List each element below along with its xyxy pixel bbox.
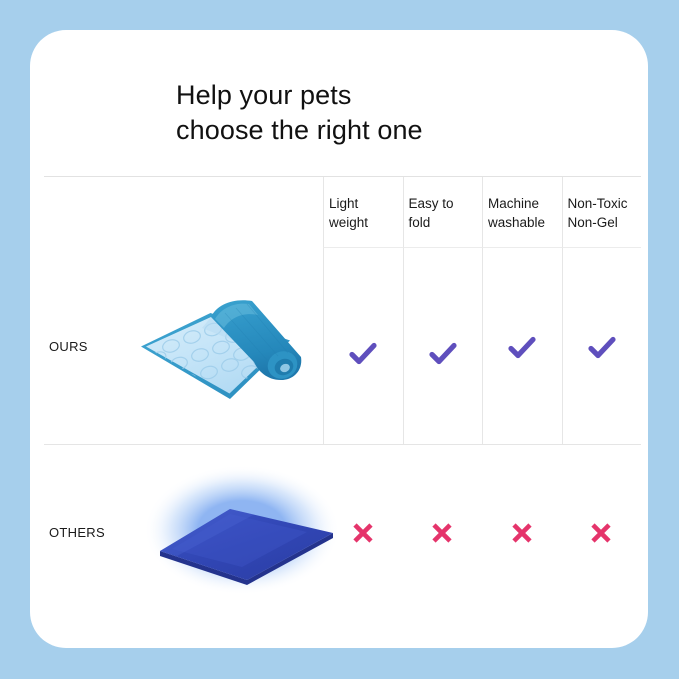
- cell-ours-non-toxic-non-gel: [562, 248, 642, 444]
- dark-blue-flat-gel-pad-image: [142, 463, 342, 597]
- cell-others-easy-to-fold: [403, 445, 483, 620]
- header-cell-light-weight: Light weight: [323, 177, 403, 248]
- header-label: Non-Toxic Non-Gel: [568, 194, 628, 232]
- product-cell-others: OTHERS: [44, 445, 323, 620]
- cell-others-machine-washable: [482, 445, 562, 620]
- content-card: Help your pets choose the right one Ligh…: [30, 30, 648, 648]
- row-label-others: OTHERS: [49, 525, 105, 540]
- blue-rolled-cooling-mat-image: [136, 282, 311, 410]
- product-cell-ours: OURS: [44, 248, 323, 444]
- cross-icon: [588, 520, 614, 546]
- table-header-row: Light weight Easy to fold Machine washab…: [44, 177, 641, 248]
- cross-icon: [509, 520, 535, 546]
- header-cell-non-toxic-non-gel: Non-Toxic Non-Gel: [562, 177, 642, 248]
- header-cell-machine-washable: Machine washable: [482, 177, 562, 248]
- table-row-others: OTHERS: [44, 445, 641, 620]
- header-label: Light weight: [329, 194, 368, 232]
- header-label: Machine washable: [488, 194, 545, 232]
- header-label: Easy to fold: [409, 194, 454, 232]
- comparison-infographic: Help your pets choose the right one Ligh…: [0, 0, 679, 679]
- page-title: Help your pets choose the right one: [176, 78, 596, 148]
- header-cell-easy-to-fold: Easy to fold: [403, 177, 483, 248]
- comparison-table: Light weight Easy to fold Machine washab…: [44, 176, 641, 620]
- check-icon: [587, 335, 617, 361]
- cell-others-non-toxic-non-gel: [562, 445, 642, 620]
- header-product-cell: [44, 177, 323, 248]
- cell-others-light-weight: [323, 445, 403, 620]
- row-label-ours: OURS: [49, 339, 88, 354]
- check-icon: [348, 341, 378, 367]
- cross-icon: [429, 520, 455, 546]
- cell-ours-light-weight: [323, 248, 403, 444]
- check-icon: [428, 341, 458, 367]
- check-icon: [507, 335, 537, 361]
- table-row-ours: OURS: [44, 248, 641, 445]
- cross-icon: [350, 520, 376, 546]
- cell-ours-machine-washable: [482, 248, 562, 444]
- cell-ours-easy-to-fold: [403, 248, 483, 444]
